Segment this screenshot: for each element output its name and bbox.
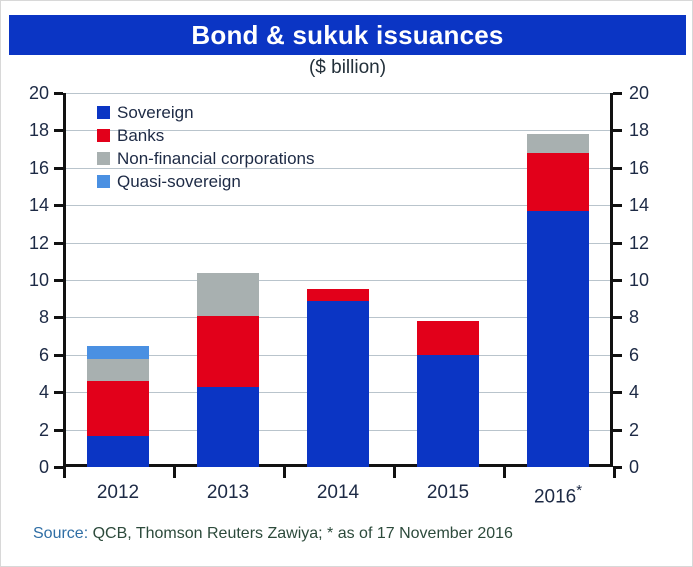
- bar-segment[interactable]: [197, 387, 259, 467]
- x-axis-label: 2016*: [503, 482, 613, 508]
- y-axis-right: 02468101214161820: [629, 93, 677, 467]
- y-axis-label-left: 0: [3, 458, 49, 476]
- x-tick: [393, 467, 396, 478]
- y-tick-right: [613, 354, 622, 357]
- legend-label: Quasi-sovereign: [117, 172, 241, 192]
- y-tick-left: [54, 429, 63, 432]
- y-tick-left: [54, 204, 63, 207]
- y-axis-label-right: 6: [629, 346, 675, 364]
- bar-group[interactable]: [411, 93, 485, 467]
- bar-stack[interactable]: [87, 346, 149, 467]
- legend-label: Non-financial corporations: [117, 149, 315, 169]
- legend-swatch-icon: [97, 175, 110, 188]
- y-tick-left: [54, 92, 63, 95]
- bar-segment[interactable]: [87, 346, 149, 358]
- legend-item-0[interactable]: Sovereign: [97, 101, 315, 124]
- chart-legend: SovereignBanksNon-financial corporations…: [97, 101, 315, 193]
- x-axis-label: 2014: [283, 482, 393, 504]
- bar-segment[interactable]: [527, 153, 589, 211]
- y-axis-label-right: 20: [629, 84, 675, 102]
- legend-swatch-icon: [97, 129, 110, 142]
- bar-segment[interactable]: [87, 381, 149, 436]
- y-tick-right: [613, 316, 622, 319]
- bar-stack[interactable]: [417, 321, 479, 467]
- y-axis-label-left: 4: [3, 383, 49, 401]
- bar-segment[interactable]: [527, 211, 589, 467]
- y-tick-right: [613, 167, 622, 170]
- y-tick-right: [613, 204, 622, 207]
- y-axis-label-right: 14: [629, 196, 675, 214]
- x-axis-label: 2015: [393, 482, 503, 504]
- legend-item-1[interactable]: Banks: [97, 124, 315, 147]
- y-axis-label-left: 14: [3, 196, 49, 214]
- x-tick: [283, 467, 286, 478]
- y-axis-label-right: 2: [629, 421, 675, 439]
- bar-segment[interactable]: [87, 359, 149, 381]
- legend-swatch-icon: [97, 152, 110, 165]
- y-axis-label-right: 16: [629, 159, 675, 177]
- legend-label: Sovereign: [117, 103, 194, 123]
- bar-stack[interactable]: [307, 289, 369, 467]
- y-tick-right: [613, 279, 622, 282]
- bar-segment[interactable]: [197, 316, 259, 387]
- y-tick-left: [54, 129, 63, 132]
- y-tick-left: [54, 242, 63, 245]
- x-axis-labels: 20122013201420152016*: [63, 482, 613, 512]
- y-tick-right: [613, 429, 622, 432]
- chart-subtitle: ($ billion): [1, 57, 693, 79]
- y-axis-label-right: 0: [629, 458, 675, 476]
- bar-group[interactable]: [521, 93, 595, 467]
- y-axis-label-left: 20: [3, 84, 49, 102]
- chart-figure: Bond & sukuk issuances ($ billion) 02468…: [0, 0, 693, 567]
- x-axis-label: 2013: [173, 482, 283, 504]
- y-tick-right: [613, 242, 622, 245]
- x-tick: [173, 467, 176, 478]
- y-tick-left: [54, 466, 63, 469]
- bar-segment[interactable]: [527, 134, 589, 153]
- y-tick-left: [54, 279, 63, 282]
- y-axis-left: 02468101214161820: [1, 93, 49, 467]
- y-axis-label-right: 4: [629, 383, 675, 401]
- x-tick: [503, 467, 506, 478]
- y-axis-label-left: 8: [3, 308, 49, 326]
- y-axis-label-left: 12: [3, 234, 49, 252]
- chart-title-banner: Bond & sukuk issuances: [9, 15, 686, 55]
- bar-stack[interactable]: [197, 273, 259, 467]
- y-tick-left: [54, 316, 63, 319]
- y-tick-left: [54, 167, 63, 170]
- legend-item-3[interactable]: Quasi-sovereign: [97, 170, 315, 193]
- bar-segment[interactable]: [417, 355, 479, 467]
- source-note: Source: QCB, Thomson Reuters Zawiya; * a…: [33, 525, 513, 543]
- legend-item-2[interactable]: Non-financial corporations: [97, 147, 315, 170]
- bar-segment[interactable]: [417, 321, 479, 355]
- y-axis-label-right: 12: [629, 234, 675, 252]
- bar-segment[interactable]: [307, 301, 369, 467]
- legend-swatch-icon: [97, 106, 110, 119]
- y-tick-right: [613, 92, 622, 95]
- y-tick-right: [613, 129, 622, 132]
- bar-stack[interactable]: [527, 134, 589, 467]
- y-tick-right: [613, 391, 622, 394]
- y-axis-label-left: 10: [3, 271, 49, 289]
- y-axis-label-left: 18: [3, 121, 49, 139]
- y-axis-label-left: 16: [3, 159, 49, 177]
- source-label: Source:: [33, 525, 88, 542]
- bar-segment[interactable]: [197, 273, 259, 316]
- y-axis-label-right: 18: [629, 121, 675, 139]
- page-title: Bond & sukuk issuances: [191, 20, 503, 51]
- x-tick: [613, 467, 616, 478]
- y-tick-left: [54, 354, 63, 357]
- source-text: QCB, Thomson Reuters Zawiya; * as of 17 …: [88, 525, 513, 542]
- bar-segment[interactable]: [87, 436, 149, 467]
- y-tick-left: [54, 391, 63, 394]
- x-tick: [63, 467, 66, 478]
- y-axis-label-right: 8: [629, 308, 675, 326]
- y-axis-label-right: 10: [629, 271, 675, 289]
- bar-segment[interactable]: [307, 289, 369, 300]
- y-axis-label-left: 2: [3, 421, 49, 439]
- legend-label: Banks: [117, 126, 164, 146]
- x-axis-label: 2012: [63, 482, 173, 504]
- y-axis-label-left: 6: [3, 346, 49, 364]
- x-axis-ticks: [63, 467, 613, 479]
